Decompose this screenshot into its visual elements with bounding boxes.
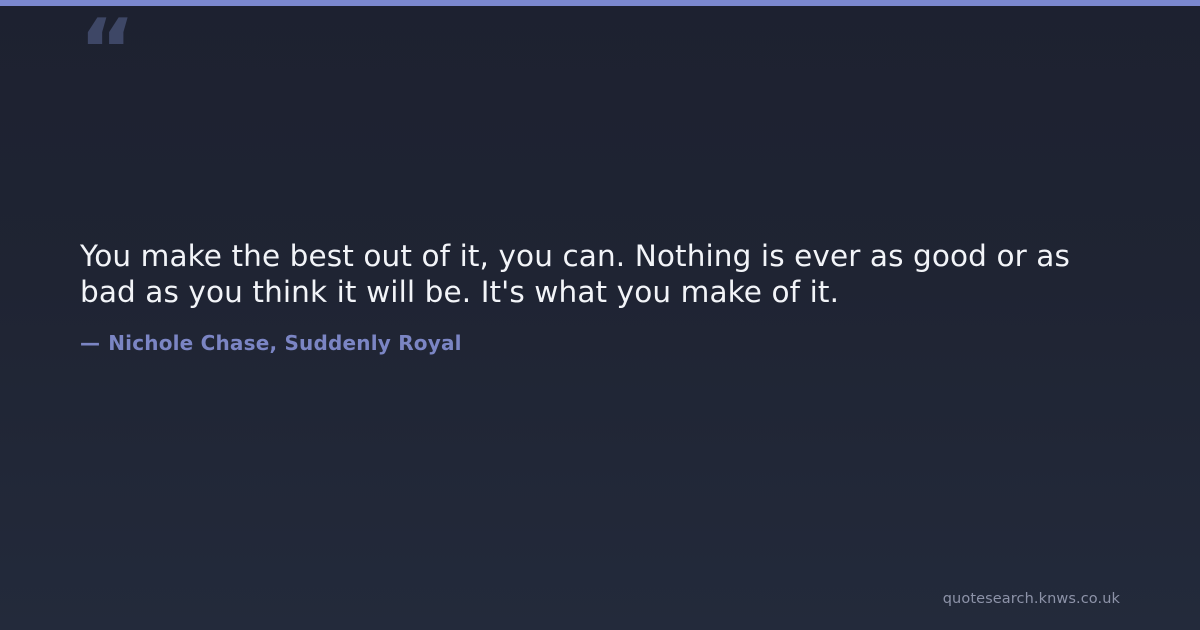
top-accent-bar <box>0 0 1200 6</box>
quote-card: “ You make the best out of it, you can. … <box>0 0 1200 630</box>
attribution-label: Nichole Chase, Suddenly Royal <box>108 331 462 355</box>
attribution-dash: — <box>80 330 100 356</box>
source-url: quotesearch.knws.co.uk <box>943 590 1120 608</box>
open-quote-icon: “ <box>79 8 134 94</box>
quote-content: You make the best out of it, you can. No… <box>80 238 1110 356</box>
attribution: —Nichole Chase, Suddenly Royal <box>80 330 1110 356</box>
quote-text: You make the best out of it, you can. No… <box>80 238 1110 310</box>
